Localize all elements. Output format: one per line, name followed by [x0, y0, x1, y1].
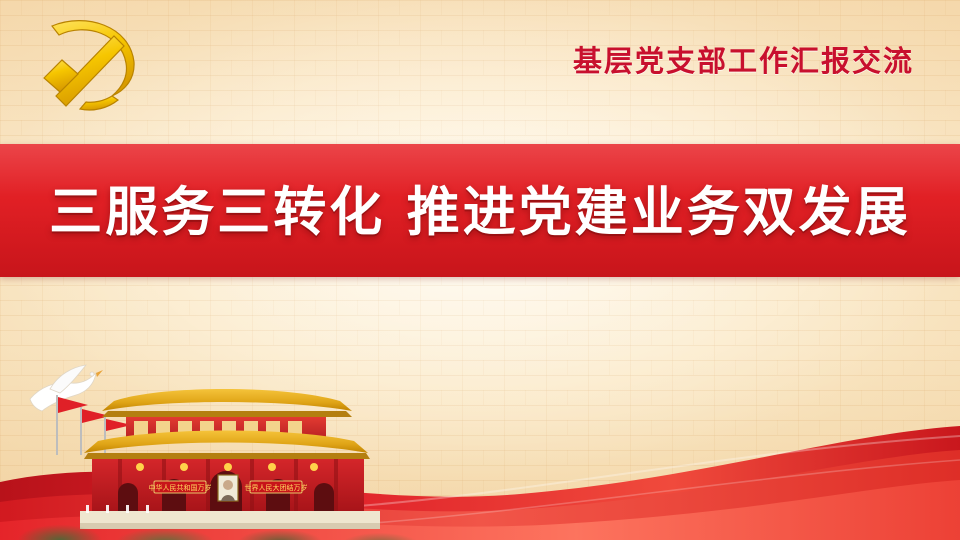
presentation-slide: 基层党支部工作汇报交流 三服务三转化 推进党建业务双发展: [0, 0, 960, 540]
illustration-area: 中华人民共和国万岁 世界人民大团结万岁: [0, 277, 960, 540]
slide-subtitle: 基层党支部工作汇报交流: [573, 38, 914, 80]
svg-text:世界人民大团结万岁: 世界人民大团结万岁: [245, 483, 308, 492]
page-title: 三服务三转化 推进党建业务双发展: [0, 170, 960, 246]
foreground-greenery: [0, 498, 470, 540]
party-emblem-hammer-sickle-icon: [34, 8, 154, 116]
svg-text:中华人民共和国万岁: 中华人民共和国万岁: [149, 483, 212, 492]
title-banner: 三服务三转化 推进党建业务双发展: [0, 144, 960, 277]
